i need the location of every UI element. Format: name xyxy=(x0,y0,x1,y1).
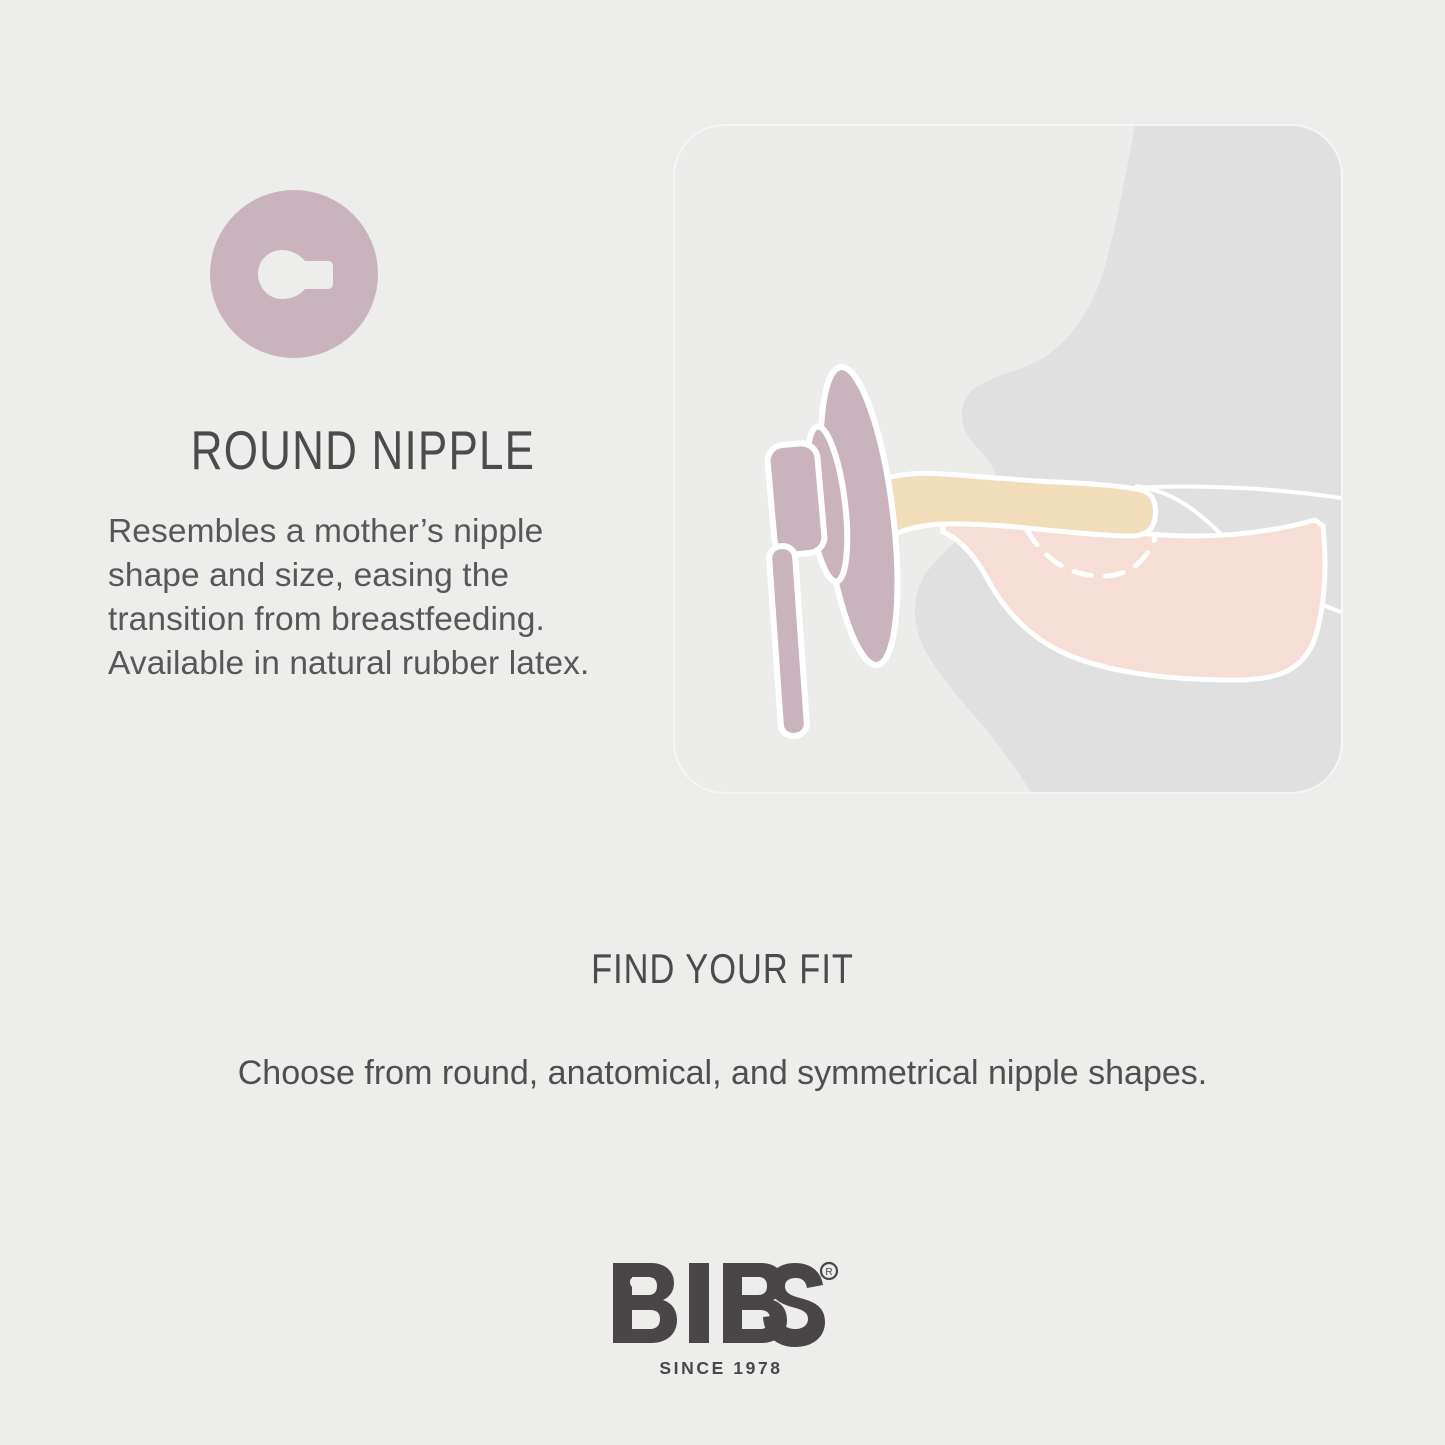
find-your-fit-subtitle: Choose from round, anatomical, and symme… xyxy=(0,1051,1445,1095)
heart-icon xyxy=(630,1277,650,1294)
find-your-fit-title: FIND YOUR FIT xyxy=(130,945,1315,993)
round-nipple-shape-icon xyxy=(210,190,378,358)
feature-title: ROUND NIPPLE xyxy=(159,420,567,480)
pacifier-strap xyxy=(768,545,807,736)
registered-trademark-glyph: R xyxy=(825,1267,832,1278)
bibs-logo: R SINCE 1978 xyxy=(603,1255,843,1385)
baby-head-silhouette xyxy=(915,126,1341,792)
letter-i xyxy=(689,1263,709,1343)
find-your-fit-section: FIND YOUR FIT Choose from round, anatomi… xyxy=(0,945,1445,1095)
feature-section: ROUND NIPPLE Resembles a mother’s nipple… xyxy=(0,0,1445,830)
bibs-wordmark: R xyxy=(613,1263,837,1347)
illustration-card xyxy=(673,124,1343,794)
brand-tagline: SINCE 1978 xyxy=(659,1358,782,1378)
feature-info-column: ROUND NIPPLE Resembles a mother’s nipple… xyxy=(108,190,618,686)
pacifier-handle-knob xyxy=(766,442,825,556)
brand-footer: R SINCE 1978 xyxy=(0,1255,1445,1390)
feature-description: Resembles a mother’s nipple shape and si… xyxy=(108,510,618,686)
letter-b-1 xyxy=(613,1263,677,1343)
baby-head-with-pacifier-diagram xyxy=(675,126,1341,792)
page-root: ROUND NIPPLE Resembles a mother’s nipple… xyxy=(0,0,1445,1445)
